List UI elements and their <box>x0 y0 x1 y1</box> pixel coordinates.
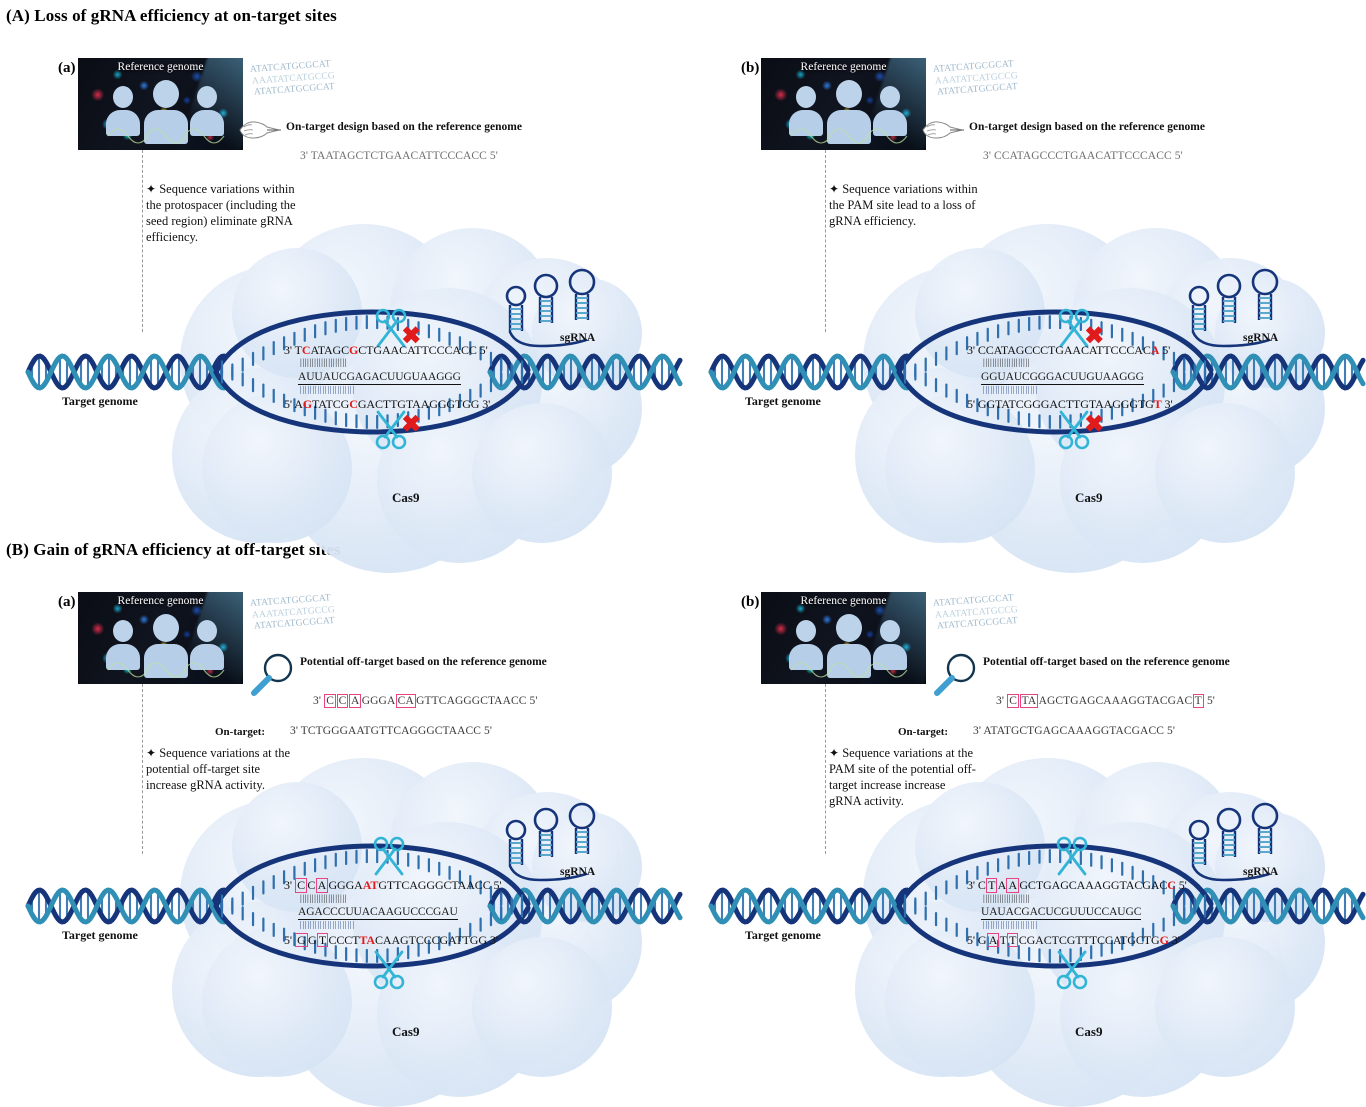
duplex-bottom-strand: 5' GATTCGACTCGTTTCCATGCTGG 3' <box>967 933 1187 948</box>
bullet-diamond-icon: ✦ <box>146 182 156 196</box>
panel-letter-A-b: (b) <box>741 60 759 77</box>
sgrna-stemloop <box>1183 270 1303 360</box>
variant-box: C <box>295 878 307 893</box>
sgrna-spacer-sequence: UAUACGACUCGUUUCCAUGC <box>981 906 1141 921</box>
variant-box: TA <box>1020 694 1039 708</box>
variant-base: TA <box>359 933 375 947</box>
variant-base: T <box>1154 397 1162 411</box>
cas9-label: Cas9 <box>392 490 419 506</box>
reference-genome-sequence-text: ATATCATGCGCATAAATATCATGCCGATATCATGCGCAT <box>250 62 333 97</box>
duplex-sequences-B-a: 3' CCAGGGAATGTTCAGGGCTAACC 5'|||||||||||… <box>284 878 502 947</box>
base-pair-bonds: |||||||||||||||||||| <box>300 894 502 902</box>
duplex-sequences-B-b: 3' CTAAGCTGAGCAAAGGTACGACC 5'|||||||||||… <box>967 878 1187 947</box>
cas9-label: Cas9 <box>1075 1024 1102 1040</box>
reference-genome-sequence-text: ATATCATGCGCATAAATATCATGCCGATATCATGCGCAT <box>250 596 333 631</box>
variant-base: AT <box>363 878 379 892</box>
variant-box: A <box>349 694 361 708</box>
duplex-bottom-strand: 5' GGTATCGGGACTTGTAAGGGTGT 3' <box>967 398 1173 411</box>
panel-caption-A-b: On-target design based on the reference … <box>969 121 1205 133</box>
offtarget-sequence-B-a: 3' CCAGGGACAGTTCAGGGCTAACC 5' <box>313 694 538 708</box>
ontarget-label-B-a: On-target: <box>215 726 265 738</box>
variant-box: A <box>987 933 1000 948</box>
photo-dna-overlay <box>78 592 243 684</box>
callout-dashed-line <box>142 684 143 854</box>
duplex-sequences-A-b: 3' CCATAGCCCTGAACATTCCCACA 5'|||||||||||… <box>967 344 1173 411</box>
photo-dna-overlay <box>78 58 243 150</box>
scissors-icon <box>372 944 428 990</box>
variant-box: A <box>1006 878 1019 893</box>
duplex-top-strand: 3' CCAGGGAATGTTCAGGGCTAACC 5' <box>284 878 502 893</box>
variant-base: G <box>349 343 358 357</box>
target-genome-label: Target genome <box>62 928 138 943</box>
ontarget-sequence-B-b: 3' ATATGCTGAGCAAAGGTACGACC 5' <box>973 725 1175 737</box>
variant-base: G <box>1160 933 1169 947</box>
panel-B-a: (a)Reference genomeATATCATGCGCATAAATATCA… <box>0 556 683 1056</box>
variant-box: T <box>1193 694 1204 708</box>
sgrna-spacer-sequence: AGACCCUUACAAGUCCCGAU <box>298 906 458 921</box>
target-genome-label: Target genome <box>745 394 821 409</box>
reference-genome-photo: Reference genome <box>78 592 243 684</box>
variant-box: CA <box>396 694 416 708</box>
scissors-icon <box>1055 836 1111 882</box>
cas9-label: Cas9 <box>392 1024 419 1040</box>
reference-genome-photo: Reference genome <box>761 592 926 684</box>
reference-genome-photo: Reference genome <box>761 58 926 150</box>
reference-genome-sequence-text: ATATCATGCGCATAAATATCATGCCGATATCATGCGCAT <box>933 596 1016 631</box>
sgrna-stemloop <box>500 804 620 894</box>
bullet-diamond-icon: ✦ <box>146 746 156 760</box>
panel-A-a: (a)Reference genomeATATCATGCGCATAAATATCA… <box>0 22 683 522</box>
duplex-backbone-ticks: |||||||||||||||||||||| <box>300 922 502 928</box>
photo-dna-overlay <box>761 592 926 684</box>
variant-box: A <box>316 878 329 893</box>
sgrna-label: sgRNA <box>560 866 595 878</box>
ontarget-label-B-b: On-target: <box>898 726 948 738</box>
sgrna-spacer-sequence: GGUAUCGGGACUUGUAAGGG <box>981 371 1144 386</box>
panel-letter-A-a: (a) <box>58 60 76 77</box>
callout-dashed-line <box>825 150 826 332</box>
photo-dna-overlay <box>761 58 926 150</box>
duplex-backbone-ticks: |||||||||||||||||||||| <box>300 387 490 393</box>
magnifier-icon <box>931 652 981 702</box>
scissors-icon <box>1055 944 1111 990</box>
magnifier-icon <box>248 652 298 702</box>
duplex-bottom-strand: 5' AGTATCGCGACTTGTAAGGGTGG 3' <box>284 398 490 411</box>
bullet-diamond-icon: ✦ <box>829 182 839 196</box>
duplex-top-strand: 3' CTAAGCTGAGCAAAGGTACGACC 5' <box>967 878 1187 893</box>
target-genome-label: Target genome <box>62 394 138 409</box>
variant-box: C <box>337 694 349 708</box>
reference-genome-sequence-text: ATATCATGCGCATAAATATCATGCCGATATCATGCGCAT <box>933 62 1016 97</box>
target-genome-label: Target genome <box>745 928 821 943</box>
cas9-label: Cas9 <box>1075 490 1102 506</box>
base-pair-bonds: |||||||||||||||||||| <box>983 358 1173 366</box>
panel-A-b: (b)Reference genomeATATCATGCGCATAAATATCA… <box>683 22 1366 522</box>
base-pair-bonds: |||||||||||||||||||| <box>983 894 1187 902</box>
callout-dashed-line <box>825 684 826 854</box>
panel-caption-B-b: Potential off-target based on the refere… <box>983 656 1230 668</box>
hand-pointing-icon <box>238 118 284 144</box>
duplex-top-strand: 3' TCATAGCGCTGAACATTCCCACC 5' <box>284 344 490 357</box>
duplex-bottom-strand: 5' GGTCCCTTACAAGTCCCGATTGG 3' <box>284 933 502 948</box>
variant-base: C <box>1167 878 1176 892</box>
sgrna-label: sgRNA <box>560 332 595 344</box>
variant-base: C <box>349 397 358 411</box>
base-pair-bonds: |||||||||||||||||||| <box>300 358 490 366</box>
panel-caption-A-a: On-target design based on the reference … <box>286 121 522 133</box>
sgrna-stemloop <box>1183 804 1303 894</box>
sgrna-spacer-sequence: AUUAUCGAGACUUGUAAGGG <box>298 371 461 386</box>
sgrna-stemloop <box>500 270 620 360</box>
panel-B-b: (b)Reference genomeATATCATGCGCATAAATATCA… <box>683 556 1366 1056</box>
sgrna-label: sgRNA <box>1243 332 1278 344</box>
panel-letter-B-a: (a) <box>58 594 76 611</box>
callout-dashed-line <box>142 150 143 332</box>
variant-box: C <box>324 694 336 708</box>
panel-letter-B-b: (b) <box>741 594 759 611</box>
duplex-top-strand: 3' CCATAGCCCTGAACATTCCCACA 5' <box>967 344 1173 357</box>
variant-base: G <box>303 397 312 411</box>
bullet-diamond-icon: ✦ <box>829 746 839 760</box>
panel-caption-B-a: Potential off-target based on the refere… <box>300 656 547 668</box>
sgrna-label: sgRNA <box>1243 866 1278 878</box>
variant-box: G <box>295 933 308 948</box>
duplex-sequences-A-a: 3' TCATAGCGCTGAACATTCCCACC 5'|||||||||||… <box>284 344 490 411</box>
duplex-backbone-ticks: |||||||||||||||||||||| <box>983 922 1187 928</box>
hand-pointing-icon <box>921 118 967 144</box>
variant-box: T <box>986 878 997 893</box>
variant-box: C <box>1007 694 1019 708</box>
offtarget-sequence-B-b: 3' CTAAGCTGAGCAAAGGTACGACT 5' <box>996 694 1215 708</box>
design-sequence-A-b: 3' CCATAGCCCTGAACATTCCCACC 5' <box>983 150 1183 162</box>
variant-box: T <box>317 933 328 948</box>
ontarget-sequence-B-a: 3' TCTGGGAATGTTCAGGGCTAACC 5' <box>290 725 492 737</box>
scissors-icon <box>372 836 428 882</box>
duplex-backbone-ticks: |||||||||||||||||||||| <box>983 387 1173 393</box>
design-sequence-A-a: 3' TAATAGCTCTGAACATTCCCACC 5' <box>300 150 498 162</box>
variant-box: T <box>1007 933 1018 948</box>
reference-genome-photo: Reference genome <box>78 58 243 150</box>
